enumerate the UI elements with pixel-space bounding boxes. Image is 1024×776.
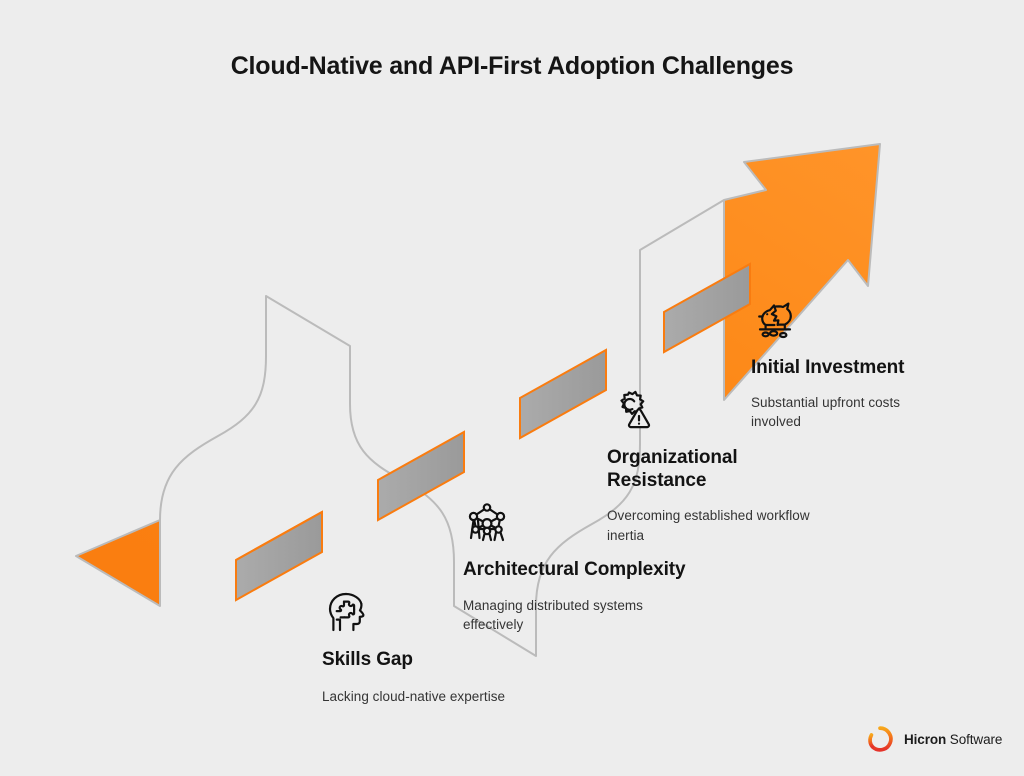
callout-initial-investment: Initial Investment Substantial upfront c… (751, 295, 904, 431)
molecule-network-icon (463, 498, 511, 546)
brand-logo: Hicron Software (866, 725, 1002, 753)
brand-name-strong: Hicron (904, 732, 946, 747)
callout-description: Substantial upfront costs involved (751, 393, 904, 431)
broken-piggy-bank-icon (751, 295, 799, 343)
hicron-ring-logo (866, 725, 894, 753)
gear-warning-icon (607, 385, 655, 433)
callout-title: Architectural Complexity (463, 558, 686, 581)
callout-description: Lacking cloud-native expertise (322, 687, 505, 706)
brand-name: Hicron Software (904, 732, 1002, 747)
brand-name-light: Software (946, 732, 1002, 747)
callout-title: Organizational Resistance (607, 446, 810, 492)
head-puzzle-icon (322, 588, 370, 636)
infographic-canvas: Cloud-Native and API-First Adoption Chal… (0, 0, 1024, 776)
callout-title: Skills Gap (322, 648, 505, 671)
callout-description: Managing distributed systems effectively (463, 596, 686, 634)
callout-title: Initial Investment (751, 356, 904, 379)
callout-description: Overcoming established workflow inertia (607, 506, 810, 544)
